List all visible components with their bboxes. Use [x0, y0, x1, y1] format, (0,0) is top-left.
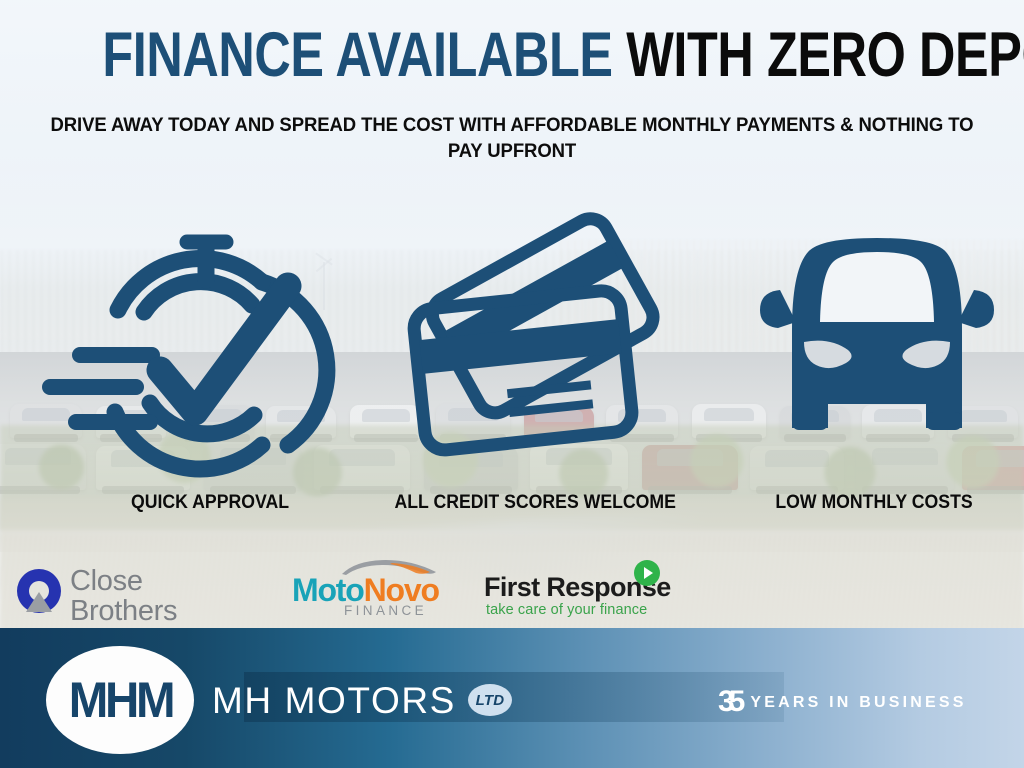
headline-part-secondary: WITH ZERO DEPOSIT — [626, 20, 1024, 90]
close-brothers-name: Close Brothers — [70, 566, 256, 627]
lender-logo-motonovo: MotoNovo FINANCE — [292, 558, 442, 620]
lender-logo-close-brothers: Close Brothers Motor Finance — [16, 562, 256, 620]
mhm-logo-badge: MHM — [46, 646, 194, 754]
benefit-icons-row — [0, 190, 1024, 490]
ltd-badge: LTD — [468, 684, 512, 716]
lender-logos-row: Close Brothers Motor Finance MotoNovo FI… — [0, 556, 1024, 628]
headline-part-primary: FINANCE AVAILABLE — [102, 20, 612, 90]
benefit-label-all-credit-scores: ALL CREDIT SCORES WELCOME — [395, 492, 674, 514]
years-number: 35 — [718, 687, 739, 717]
motonovo-wordmark: MotoNovo — [292, 574, 439, 606]
car-front-icon — [752, 190, 1002, 490]
ltd-badge-label: LTD — [476, 692, 505, 709]
poster-headline: FINANCE AVAILABLE WITH ZERO DEPOSIT — [102, 24, 921, 87]
finance-promo-poster: FINANCE AVAILABLE WITH ZERO DEPOSIT DRIV… — [0, 0, 1024, 768]
brand-footer-bar: MHM MH MOTORS LTD 35 YEARS IN BUSINESS — [0, 628, 1024, 768]
motonovo-subtitle: FINANCE — [344, 603, 427, 618]
years-in-business: 35 YEARS IN BUSINESS — [718, 688, 967, 718]
brand-name: MH MOTORS — [212, 680, 456, 722]
stopwatch-check-icon — [40, 190, 360, 490]
close-brothers-mark-icon — [16, 568, 62, 614]
years-label: YEARS IN BUSINESS — [750, 694, 966, 712]
mhm-monogram: MHM — [68, 671, 171, 729]
footer-top-strip — [0, 628, 1024, 631]
benefit-label-quick-approval: QUICK APPROVAL — [71, 492, 350, 514]
first-response-play-icon — [634, 560, 660, 586]
first-response-tagline: take care of your finance — [486, 602, 647, 618]
benefit-label-low-monthly-costs: LOW MONTHLY COSTS — [735, 492, 1014, 514]
lender-logo-first-response: First Response take care of your finance — [484, 560, 684, 618]
poster-subheadline: DRIVE AWAY TODAY AND SPREAD THE COST WIT… — [47, 112, 978, 165]
credit-cards-icon — [396, 190, 696, 490]
benefit-labels-row: QUICK APPROVAL ALL CREDIT SCORES WELCOME… — [0, 492, 1024, 522]
